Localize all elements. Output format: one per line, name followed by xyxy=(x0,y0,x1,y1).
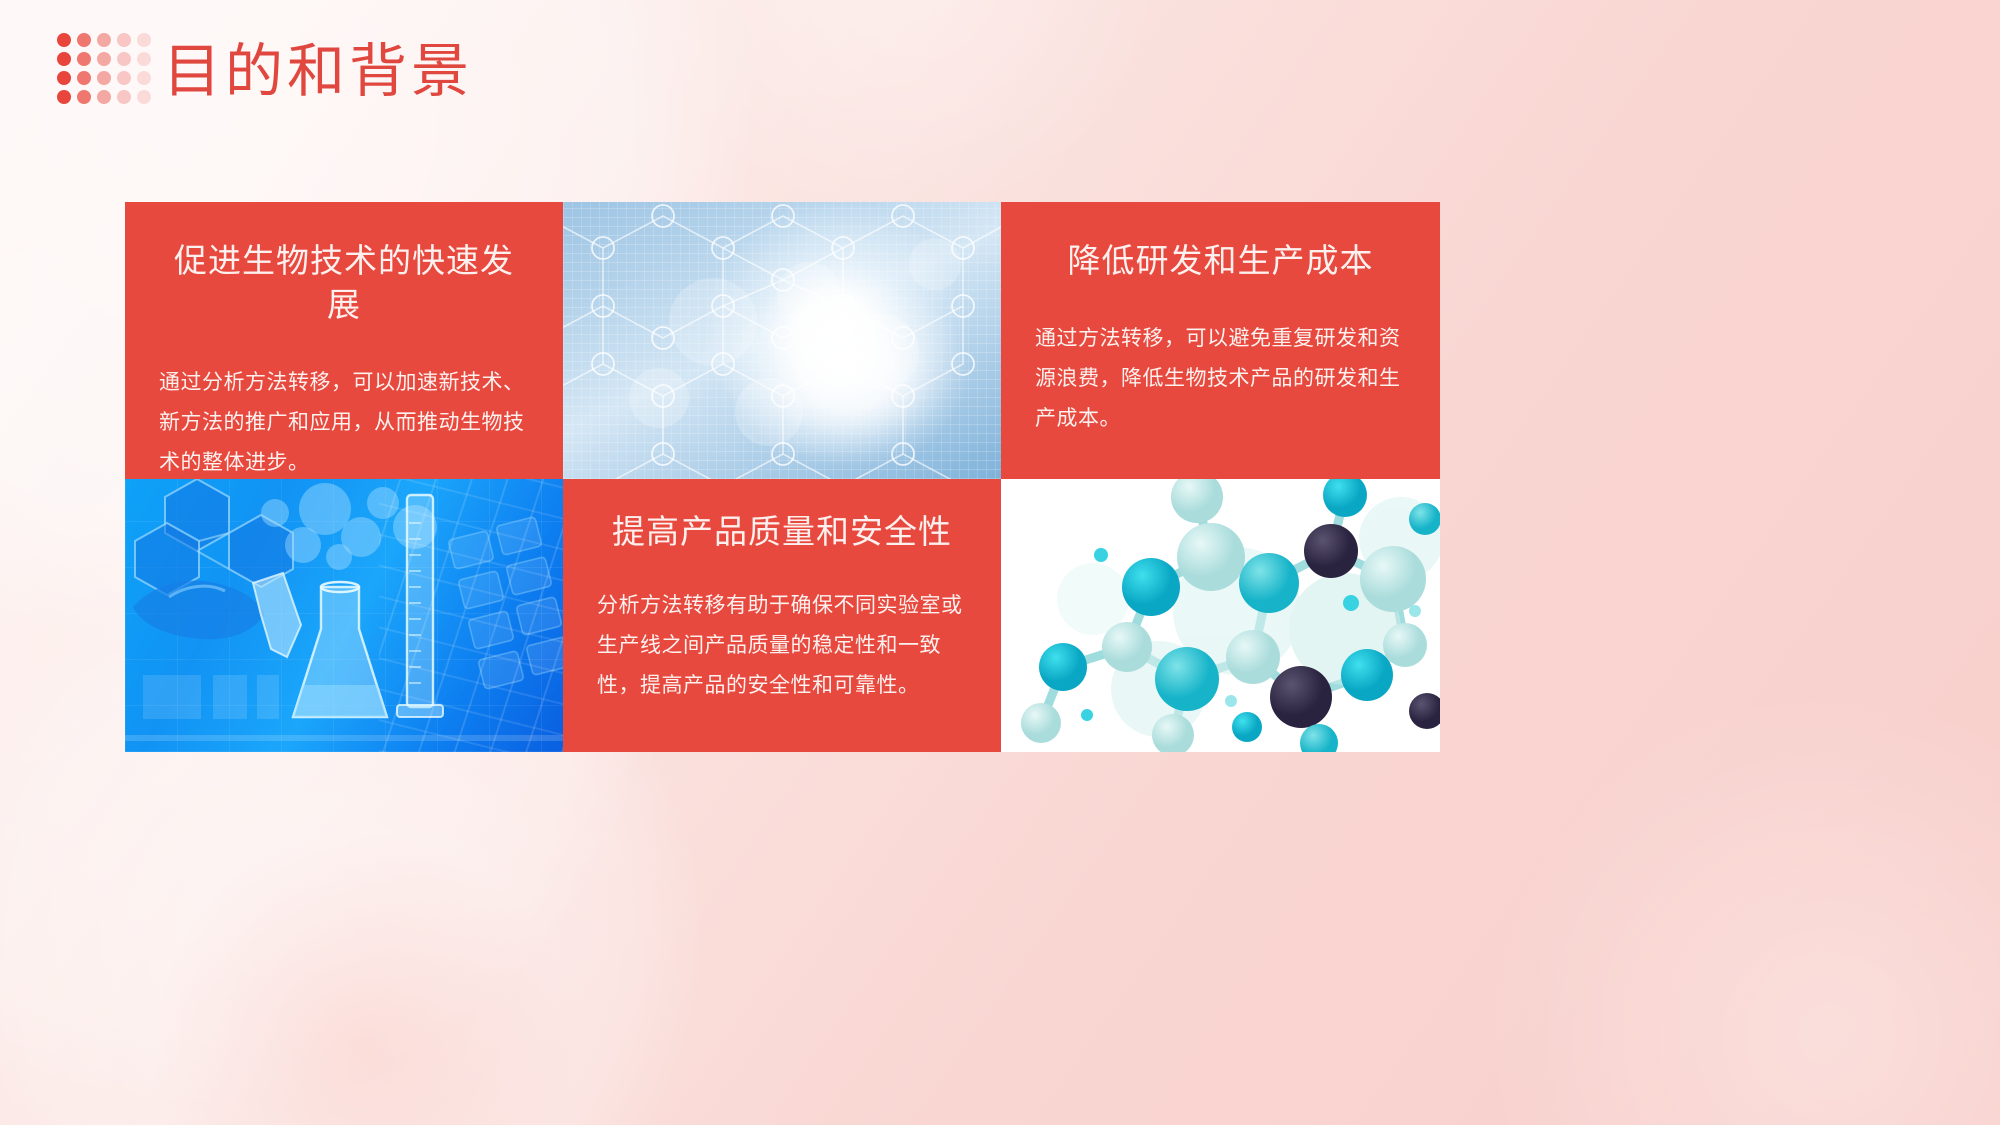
molecular-network-image xyxy=(563,202,1001,479)
card-body: 分析方法转移有助于确保不同实验室或生产线之间产品质量的稳定性和一致性，提高产品的… xyxy=(597,585,967,705)
slide-header: 目的和背景 xyxy=(0,0,2000,150)
card-reduce-cost: 降低研发和生产成本 通过方法转移，可以避免重复研发和资源浪费，降低生物技术产品的… xyxy=(1001,202,1440,479)
card-title: 降低研发和生产成本 xyxy=(1035,240,1406,284)
content-grid: 促进生物技术的快速发展 通过分析方法转移，可以加速新技术、新方法的推广和应用，从… xyxy=(125,202,1440,752)
background-blob xyxy=(150,830,580,1125)
card-body: 通过分析方法转移，可以加速新技术、新方法的推广和应用，从而推动生物技术的整体进步… xyxy=(159,362,529,479)
card-title: 提高产品质量和安全性 xyxy=(597,511,967,555)
molecule-graphic xyxy=(1001,479,1440,752)
card-promote-biotech: 促进生物技术的快速发展 通过分析方法转移，可以加速新技术、新方法的推广和应用，从… xyxy=(125,202,563,479)
page-title: 目的和背景 xyxy=(163,34,473,110)
image-glow xyxy=(720,272,974,471)
dot-grid-icon xyxy=(57,33,157,109)
card-body: 通过方法转移，可以避免重复研发和资源浪费，降低生物技术产品的研发和生产成本。 xyxy=(1035,318,1406,438)
keyboard-overlay xyxy=(379,479,563,752)
card-title: 促进生物技术的快速发展 xyxy=(159,240,529,328)
background-blob xyxy=(1480,685,2000,1125)
laboratory-image xyxy=(125,479,563,752)
molecule-cluster-image xyxy=(1001,479,1440,752)
card-quality-safety: 提高产品质量和安全性 分析方法转移有助于确保不同实验室或生产线之间产品质量的稳定… xyxy=(563,479,1001,752)
slide-canvas: 目的和背景 促进生物技术的快速发展 通过分析方法转移，可以加速新技术、新方法的推… xyxy=(0,0,2000,1125)
